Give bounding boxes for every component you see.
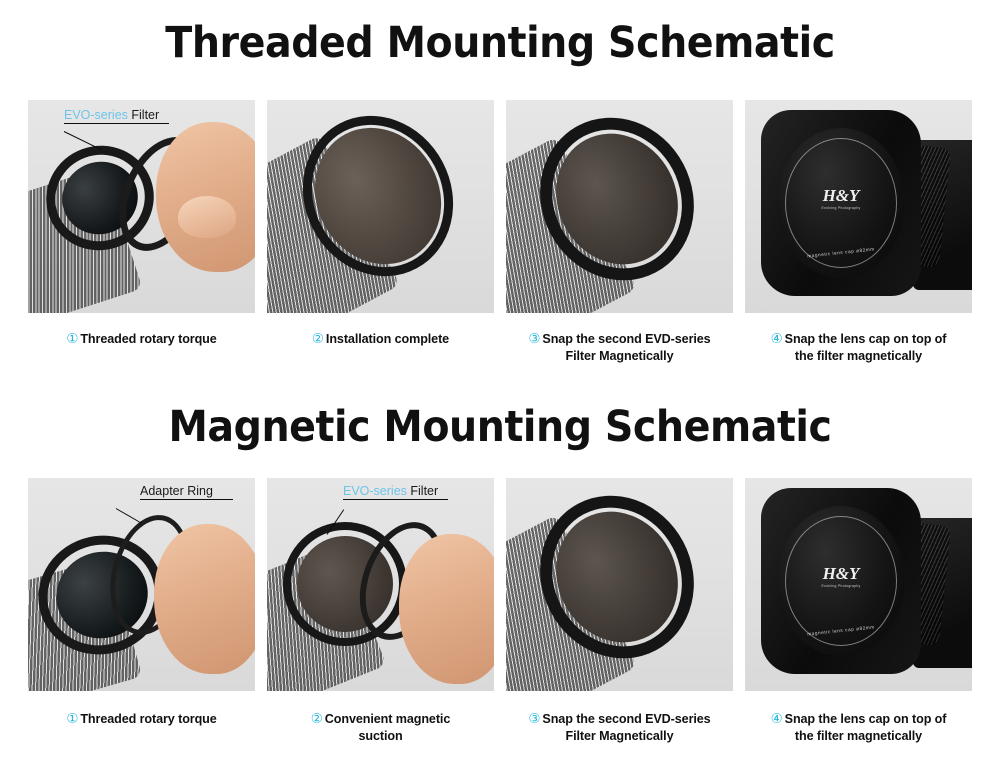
callout-label: EVO-series Filter (343, 484, 448, 498)
caption-line-2: the filter magnetically (795, 729, 922, 743)
panel-magnetic-2: EVO-series Filter (267, 478, 494, 691)
caption-line: Snap the lens cap on top of (785, 712, 947, 726)
caption-line: Threaded rotary torque (80, 332, 216, 346)
callout-leader-line (116, 508, 142, 524)
caption-magnetic-4: ④Snap the lens cap on top of the filter … (745, 710, 972, 744)
caption-line-2: the filter magnetically (795, 349, 922, 363)
caption-line-2: Filter Magnetically (566, 729, 674, 743)
callout-leader-line (64, 131, 102, 150)
callout-rule (64, 123, 169, 124)
callout-rule (343, 499, 448, 500)
panel-threaded-3 (506, 100, 733, 313)
panel-threaded-4: H&Y Evolving Photography magnetic lens c… (745, 100, 972, 313)
panel-magnetic-3 (506, 478, 733, 691)
panel-magnetic-1: Adapter Ring (28, 478, 255, 691)
callout-adapter-ring: Adapter Ring (140, 484, 233, 500)
caption-number: ④ (771, 711, 783, 726)
magnetic-lens-cap: H&Y Evolving Photography magnetic lens c… (777, 506, 905, 656)
caption-line: Snap the lens cap on top of (785, 332, 947, 346)
caption-row-threaded: ①Threaded rotary torque ②Installation co… (28, 330, 972, 364)
callout-label: EVO-series Filter (64, 108, 169, 122)
caption-number: ① (66, 711, 78, 726)
caption-number: ② (311, 711, 323, 726)
caption-line: Snap the second EVD-series (542, 332, 710, 346)
caption-line: Threaded rotary torque (80, 712, 216, 726)
caption-number: ② (312, 331, 324, 346)
callout-evo-filter: EVO-series Filter (64, 108, 169, 124)
caption-line-2: suction (358, 729, 402, 743)
callout-blue-text: EVO-series (343, 484, 407, 498)
caption-row-magnetic: ①Threaded rotary torque ②Convenient magn… (28, 710, 972, 744)
caption-line: Installation complete (326, 332, 449, 346)
caption-number: ③ (528, 331, 540, 346)
callout-black-text: Adapter Ring (140, 484, 213, 498)
cap-tagline-text: Evolving Photography (777, 584, 905, 588)
section-title-magnetic: Magnetic Mounting Schematic (40, 406, 960, 449)
caption-threaded-2: ②Installation complete (267, 330, 494, 364)
panel-row-threaded: EVO-series Filter H&Y Evolving Pho (28, 100, 972, 313)
cap-tagline-text: Evolving Photography (777, 206, 905, 210)
caption-magnetic-1: ①Threaded rotary torque (28, 710, 255, 744)
caption-number: ③ (528, 711, 540, 726)
hand (399, 534, 494, 684)
callout-rule (140, 499, 233, 500)
caption-threaded-4: ④Snap the lens cap on top of the filter … (745, 330, 972, 364)
caption-magnetic-3: ③Snap the second EVD-series Filter Magne… (506, 710, 733, 744)
callout-black-text: Filter (131, 108, 159, 122)
panel-threaded-1: EVO-series Filter (28, 100, 255, 313)
panel-row-magnetic: Adapter Ring EVO-series Filter (28, 478, 972, 691)
caption-number: ① (66, 331, 78, 346)
thumb (178, 196, 236, 238)
caption-line: Convenient magnetic (325, 712, 450, 726)
infographic-page: Threaded Mounting Schematic EVO-series F… (0, 0, 1000, 784)
caption-threaded-3: ③Snap the second EVD-series Filter Magne… (506, 330, 733, 364)
panel-threaded-2 (267, 100, 494, 313)
caption-magnetic-2: ②Convenient magnetic suction (267, 710, 494, 744)
callout-evo-filter: EVO-series Filter (343, 484, 448, 500)
caption-line: Snap the second EVD-series (542, 712, 710, 726)
callout-black-text: Filter (410, 484, 438, 498)
callout-blue-text: EVO-series (64, 108, 128, 122)
cap-brand-text: H&Y (777, 186, 905, 206)
caption-line-2: Filter Magnetically (566, 349, 674, 363)
section-title-threaded: Threaded Mounting Schematic (40, 22, 960, 65)
magnetic-lens-cap: H&Y Evolving Photography magnetic lens c… (777, 128, 905, 278)
callout-label: Adapter Ring (140, 484, 233, 498)
caption-threaded-1: ①Threaded rotary torque (28, 330, 255, 364)
panel-magnetic-4: H&Y Evolving Photography magnetic lens c… (745, 478, 972, 691)
cap-brand-text: H&Y (777, 564, 905, 584)
hand (154, 524, 255, 674)
caption-number: ④ (771, 331, 783, 346)
